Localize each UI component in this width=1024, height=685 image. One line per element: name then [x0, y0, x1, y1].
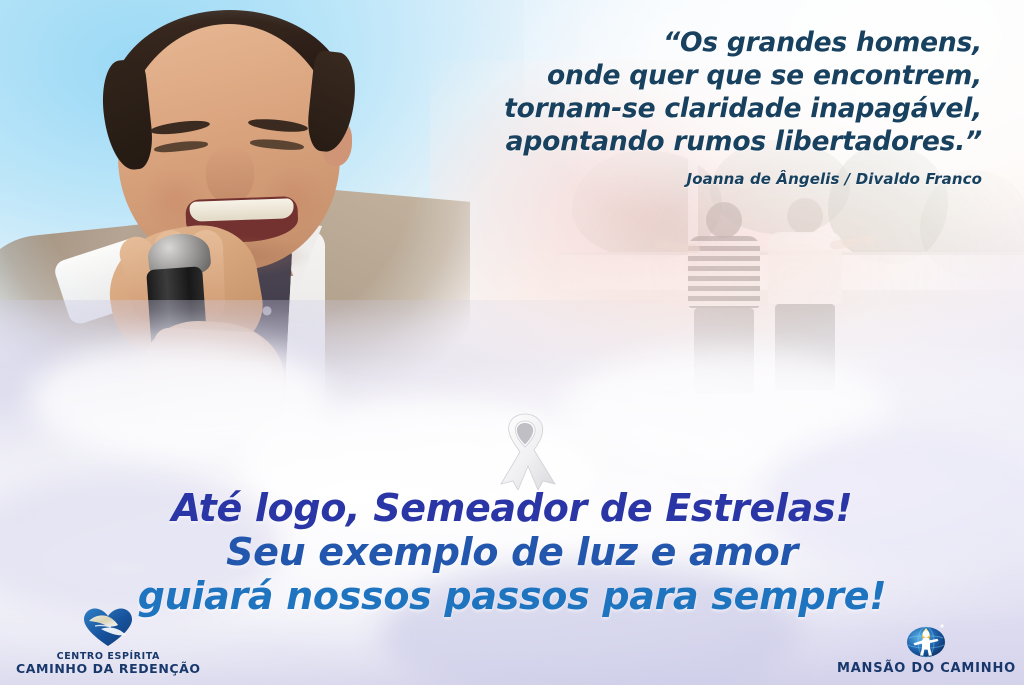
- quote-block: “Os grandes homens, onde quer que se enc…: [422, 26, 982, 188]
- logo-mansao-do-caminho: MANSÃO DO CAMINHO: [837, 617, 1016, 675]
- person-torso: [688, 236, 760, 308]
- teeth: [189, 198, 294, 222]
- headline-line-2: Seu exemplo de luz e amor: [0, 530, 1024, 574]
- heart-hands-icon: [81, 607, 135, 647]
- person-head: [706, 202, 742, 238]
- quote-line-4: apontando rumos libertadores.”: [422, 125, 982, 158]
- logo-right-line-1: MANSÃO DO CAMINHO: [837, 663, 1016, 675]
- person-head: [787, 198, 823, 234]
- quote-line-1: “Os grandes homens,: [422, 26, 982, 59]
- person-torso: [768, 232, 842, 304]
- memorial-poster: “Os grandes homens, onde quer que se enc…: [0, 0, 1024, 685]
- nose: [206, 148, 254, 204]
- globe-figure-flame-icon: [902, 617, 950, 659]
- logo-centro-espirita: CENTRO ESPÍRITA CAMINHO DA REDENÇÃO: [16, 607, 201, 675]
- headline-line-1: Até logo, Semeador de Estrelas!: [0, 486, 1024, 530]
- logo-left-line-2: CAMINHO DA REDENÇÃO: [16, 663, 201, 675]
- headline-block: Até logo, Semeador de Estrelas! Seu exem…: [0, 486, 1024, 618]
- quote-line-2: onde quer que se encontrem,: [422, 59, 982, 92]
- quote-attribution: Joanna de Ângelis / Divaldo Franco: [422, 170, 982, 188]
- quote-line-3: tornam-se claridade inapagável,: [422, 92, 982, 125]
- white-ribbon-icon: [487, 408, 563, 490]
